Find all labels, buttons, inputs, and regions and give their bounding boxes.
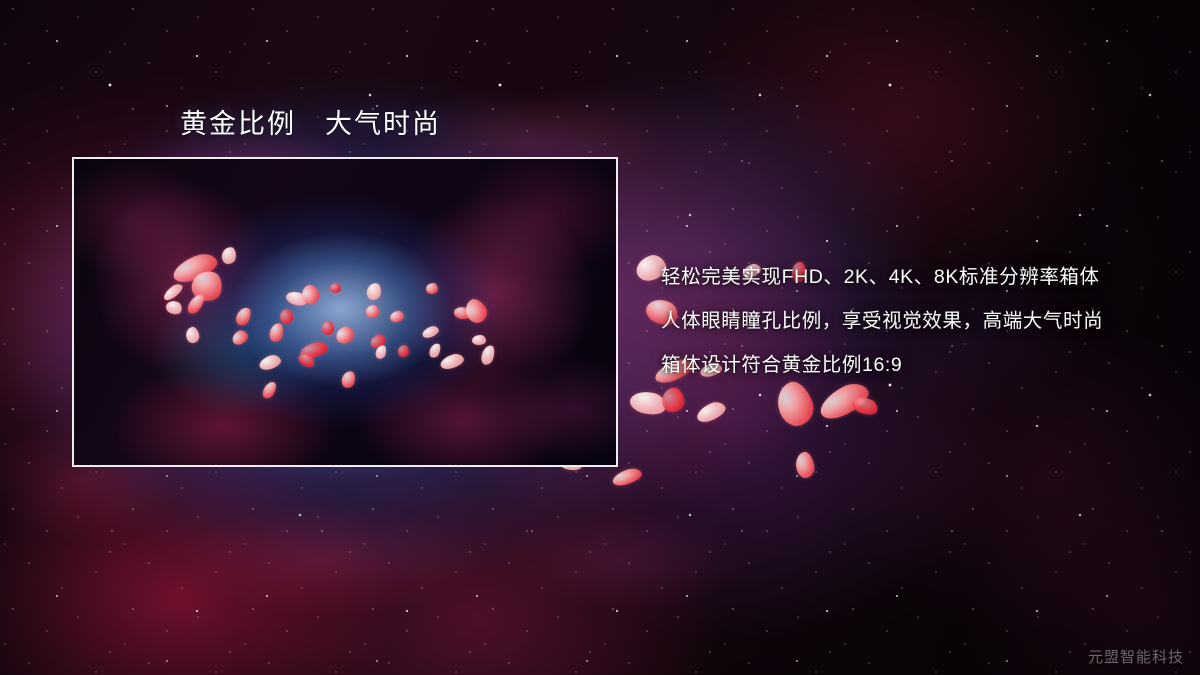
body-line-2: 人体眼睛瞳孔比例，享受视觉效果，高端大气时尚 bbox=[661, 299, 1161, 343]
rose-petal bbox=[330, 283, 341, 293]
rose-petal bbox=[472, 335, 486, 345]
body-copy: 轻松完美实现FHD、2K、4K、8K标准分辨率箱体 人体眼睛瞳孔比例，享受视觉效… bbox=[661, 255, 1161, 387]
rose-petal bbox=[426, 283, 438, 294]
presentation-slide: 黄金比例 大气时尚 轻松完美实现FHD、2K、4K、8K标准分辨率箱体 人体眼睛… bbox=[0, 0, 1200, 675]
photo-nebula-image bbox=[74, 159, 616, 465]
rose-petal bbox=[366, 305, 379, 318]
photo-frame bbox=[72, 157, 618, 467]
body-line-1: 轻松完美实现FHD、2K、4K、8K标准分辨率箱体 bbox=[661, 255, 1161, 299]
rose-petal bbox=[398, 345, 409, 357]
body-line-3: 箱体设计符合黄金比例16:9 bbox=[661, 343, 1161, 387]
rose-petal bbox=[322, 321, 334, 335]
page-title: 黄金比例 大气时尚 bbox=[180, 102, 441, 141]
watermark: 元盟智能科技 bbox=[1088, 646, 1184, 667]
